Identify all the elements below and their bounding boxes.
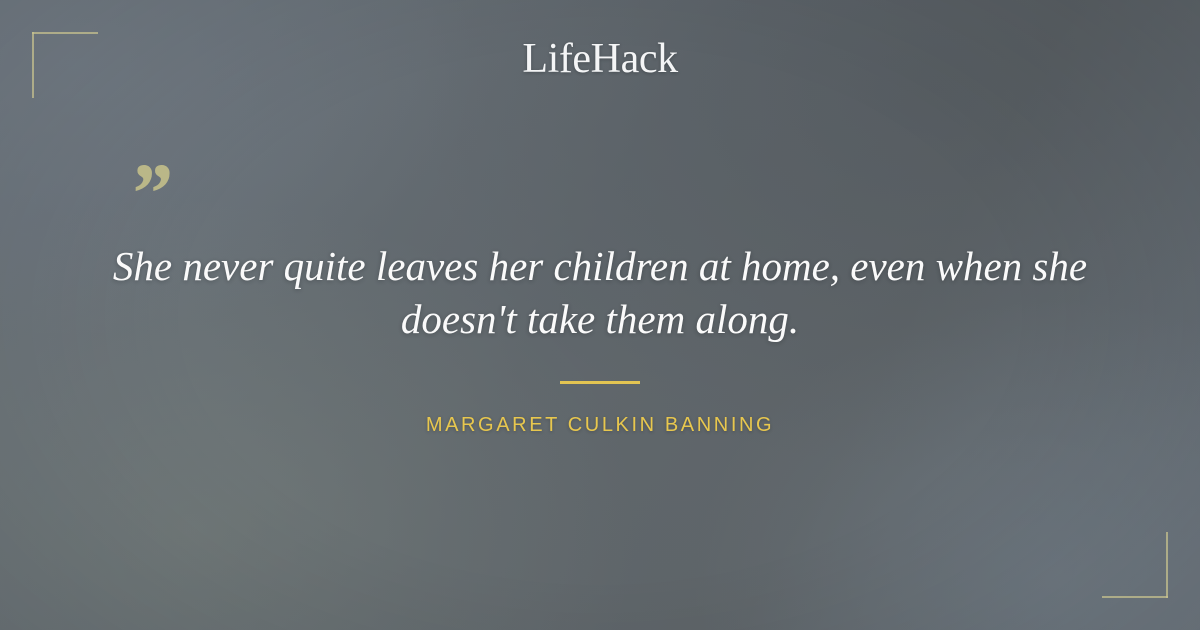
brand-logo: LifeHack [0, 38, 1200, 80]
quote-card: LifeHack ” She never quite leaves her ch… [0, 0, 1200, 630]
quote-text: She never quite leaves her children at h… [100, 240, 1100, 347]
gold-divider [560, 381, 640, 384]
corner-bracket-bottom-right-icon [1102, 532, 1168, 598]
quote-author: MARGARET CULKIN BANNING [0, 414, 1200, 437]
quotation-mark-icon: ” [128, 150, 171, 236]
